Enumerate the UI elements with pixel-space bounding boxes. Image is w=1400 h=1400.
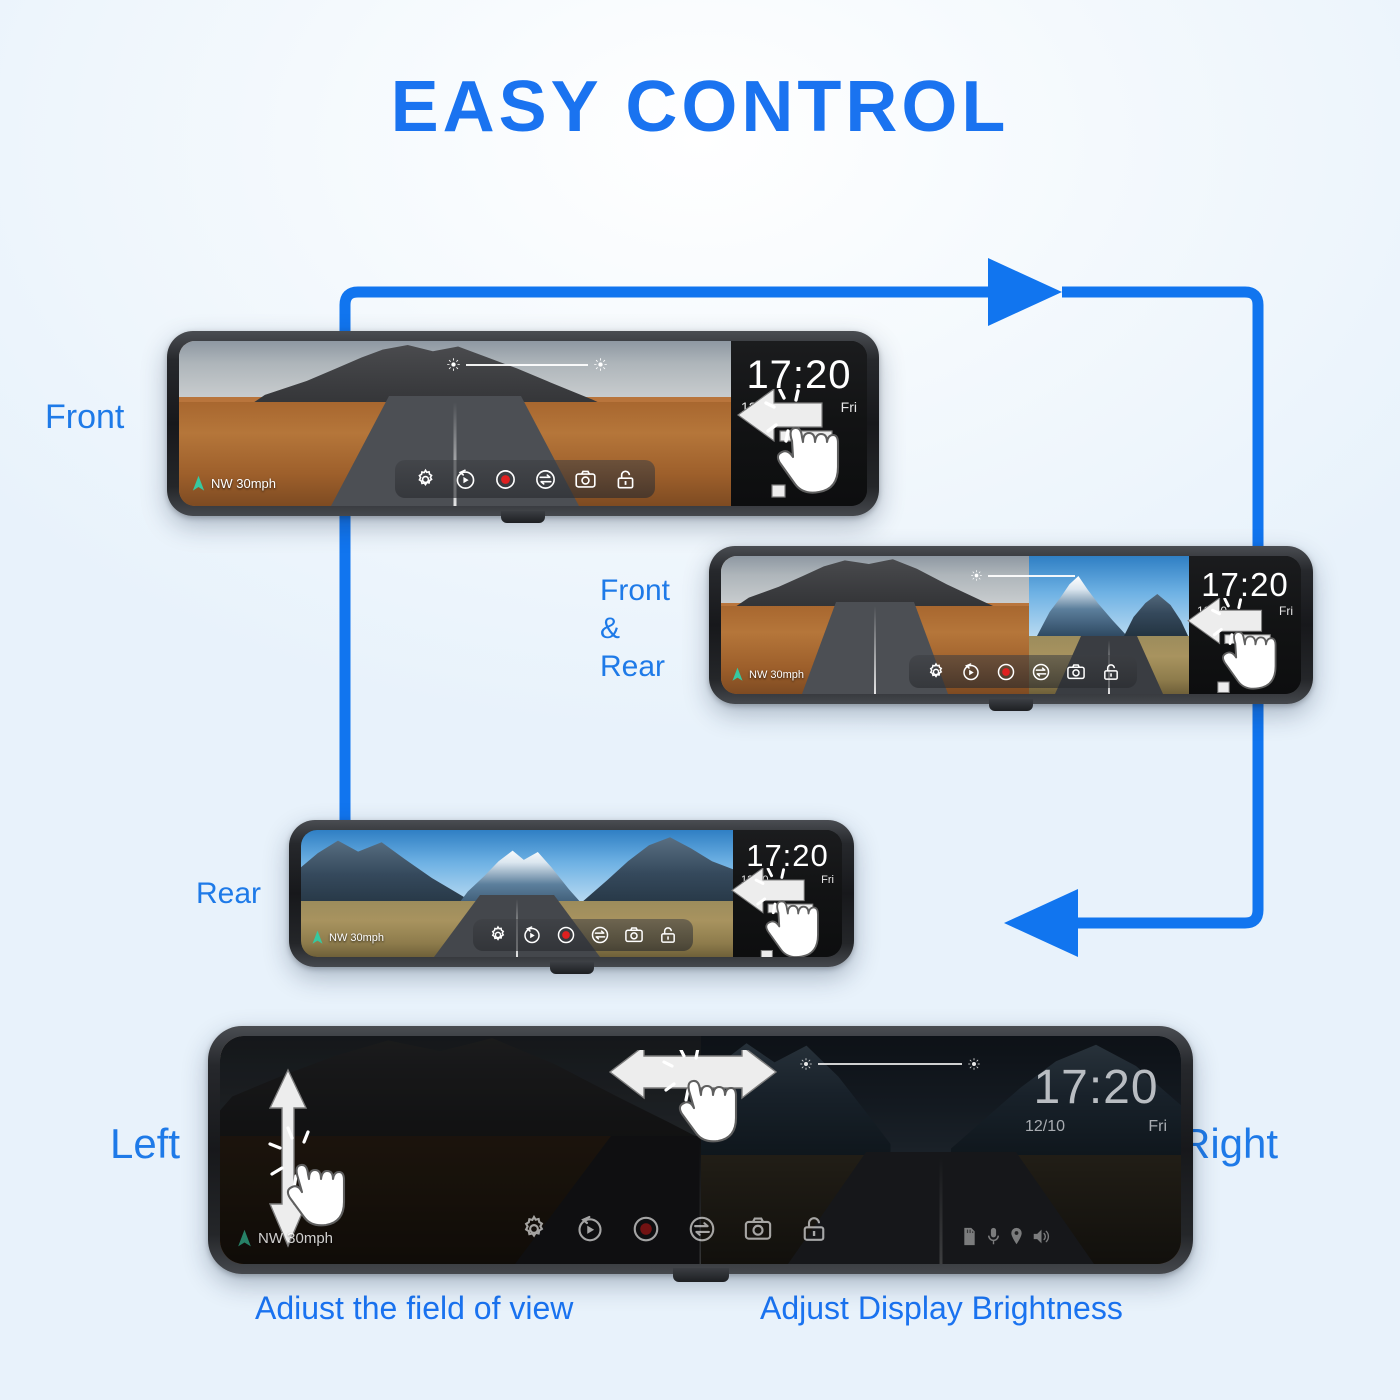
label-front-and-rear-line3: Rear [600, 648, 670, 686]
speed-value: NW 30mph [258, 1230, 333, 1247]
record-icon[interactable] [556, 925, 576, 945]
mirror-device-brightness[interactable]: NW 30mph [208, 1026, 1193, 1274]
lock-icon[interactable] [658, 925, 678, 945]
label-rear: Rear [196, 877, 261, 911]
settings-icon[interactable] [414, 468, 437, 491]
clock-panel: 17:20 12/10 Fri [731, 341, 867, 506]
camera-icon[interactable] [574, 468, 597, 491]
brightness-slider[interactable] [800, 1058, 980, 1070]
mirror-device-front-rear[interactable]: NW 30mph [709, 546, 1313, 704]
clock-date: 12/10 [1025, 1118, 1065, 1136]
speed-indicator: NW 30mph [236, 1229, 333, 1248]
switch-view-icon[interactable] [1031, 662, 1051, 682]
clock-weekday: Fri [821, 874, 834, 886]
label-front-and-rear-line2: & [600, 610, 670, 648]
playback-icon[interactable] [575, 1214, 605, 1244]
settings-icon[interactable] [926, 662, 946, 682]
lock-icon[interactable] [799, 1214, 829, 1244]
switch-view-icon[interactable] [687, 1214, 717, 1244]
clock-date: 12/10 [741, 874, 769, 886]
sun-small-icon [968, 1058, 980, 1070]
sun-small-icon [594, 358, 607, 371]
mirror-device-rear[interactable]: NW 30mph [289, 820, 854, 967]
mirror-mount-notch [550, 962, 594, 974]
clock-time: 17:20 [746, 355, 851, 395]
microphone-icon [986, 1227, 1001, 1246]
sdcard-icon [961, 1227, 978, 1246]
brightness-track[interactable] [466, 364, 588, 366]
switch-view-icon[interactable] [534, 468, 557, 491]
control-toolbar[interactable] [395, 460, 655, 498]
record-icon[interactable] [631, 1214, 661, 1244]
record-icon[interactable] [494, 468, 517, 491]
brightness-track[interactable] [818, 1063, 962, 1065]
caption-brightness: Adjust Display Brightness [760, 1290, 1123, 1327]
speed-value: NW 30mph [329, 932, 384, 944]
mirror-mount-notch [673, 1268, 729, 1282]
clock-weekday: Fri [841, 399, 857, 415]
page-title: EASY CONTROL [0, 66, 1400, 148]
label-right: Right [1180, 1120, 1278, 1168]
camera-icon[interactable] [743, 1214, 773, 1244]
speed-value: NW 30mph [211, 476, 276, 491]
sun-small-icon [800, 1058, 812, 1070]
mirror-mount-notch [989, 699, 1033, 711]
screen-front-rear[interactable]: NW 30mph [721, 556, 1301, 694]
record-icon[interactable] [996, 662, 1016, 682]
speed-indicator: NW 30mph [731, 667, 804, 682]
mirror-mount-notch [501, 511, 545, 523]
label-front: Front [45, 398, 124, 437]
clock-time: 17:20 [1201, 568, 1289, 601]
control-toolbar[interactable] [909, 655, 1137, 688]
navigation-arrow-icon [311, 930, 324, 945]
clock-subline: 12/10 Fri [731, 395, 867, 415]
clock-time: 17:20 [746, 840, 829, 871]
control-toolbar[interactable] [473, 919, 693, 951]
mirror-device-front[interactable]: NW 30mph [167, 331, 879, 516]
clock-subline: 12/10 Fri [733, 871, 842, 886]
label-front-and-rear: Front & Rear [600, 572, 670, 686]
control-toolbar[interactable] [508, 1206, 840, 1252]
speed-indicator: NW 30mph [191, 475, 276, 492]
clock-panel: 17:20 12/10 Fri [1011, 1036, 1181, 1264]
lock-icon[interactable] [1101, 662, 1121, 682]
switch-view-icon[interactable] [590, 925, 610, 945]
clock-date: 12/10 [1197, 604, 1227, 618]
playback-icon[interactable] [961, 662, 981, 682]
label-left: Left [110, 1120, 180, 1168]
navigation-arrow-icon [191, 475, 206, 492]
clock-subline: 12/10 Fri [1011, 1112, 1181, 1136]
navigation-arrow-icon [236, 1229, 253, 1248]
screen-front[interactable]: NW 30mph [179, 341, 867, 506]
speed-value: NW 30mph [749, 669, 804, 681]
settings-icon[interactable] [488, 925, 508, 945]
clock-panel: 17:20 12/10 Fri [733, 830, 842, 957]
settings-icon[interactable] [519, 1214, 549, 1244]
brightness-track[interactable] [988, 575, 1075, 577]
brightness-slider[interactable] [971, 570, 1081, 581]
navigation-arrow-icon [731, 667, 744, 682]
clock-panel: 17:20 12/10 Fri [1189, 556, 1301, 694]
clock-subline: 12/10 Fri [1189, 601, 1301, 618]
lock-icon[interactable] [614, 468, 637, 491]
playback-icon[interactable] [454, 468, 477, 491]
sun-small-icon [447, 358, 460, 371]
speed-indicator: NW 30mph [311, 930, 384, 945]
label-front-and-rear-line1: Front [600, 572, 670, 610]
camera-icon[interactable] [624, 925, 644, 945]
caption-field-of-view: Adiust the field of view [255, 1290, 573, 1327]
lane-marking [874, 606, 876, 694]
clock-time: 17:20 [1033, 1064, 1158, 1112]
clock-weekday: Fri [1279, 604, 1293, 618]
playback-icon[interactable] [522, 925, 542, 945]
clock-date: 12/10 [741, 399, 776, 415]
screen-brightness[interactable]: NW 30mph [220, 1036, 1181, 1264]
brightness-slider[interactable] [447, 358, 607, 371]
camera-icon[interactable] [1066, 662, 1086, 682]
sun-small-icon [971, 570, 982, 581]
screen-rear[interactable]: NW 30mph [301, 830, 842, 957]
clock-weekday: Fri [1148, 1118, 1167, 1136]
